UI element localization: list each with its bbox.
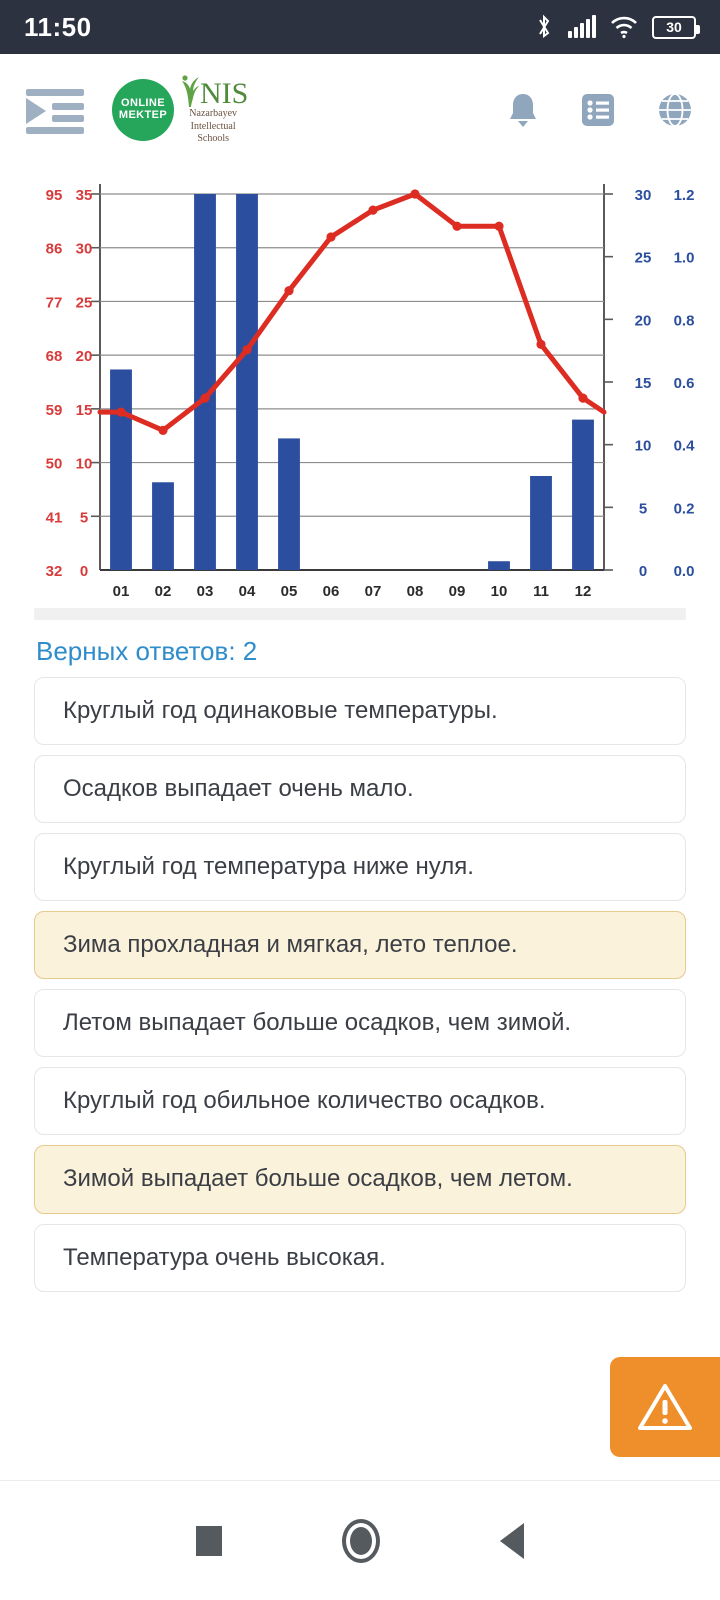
answer-option[interactable]: Зимой выпадает больше осадков, чем летом… <box>34 1145 686 1213</box>
climate-chart: 9586776859504132353025201510503025201510… <box>0 174 720 604</box>
nis-sub-line-2: Intellectual <box>189 121 237 134</box>
svg-text:20: 20 <box>635 312 652 329</box>
svg-text:20: 20 <box>76 348 93 365</box>
svg-text:0.4: 0.4 <box>674 438 696 455</box>
battery-icon: 30 <box>652 16 696 39</box>
answer-options-list: Круглый год одинаковые температуры.Осадк… <box>0 677 720 1292</box>
nis-sub-line-1: Nazarbayev <box>189 108 237 121</box>
status-bar: 11:50 30 <box>0 0 720 54</box>
svg-text:0.0: 0.0 <box>674 563 695 580</box>
svg-text:10: 10 <box>491 583 508 600</box>
battery-level-label: 30 <box>666 20 682 34</box>
svg-text:0.8: 0.8 <box>674 312 695 329</box>
header-actions <box>506 91 694 129</box>
answer-option-label: Зима прохладная и мягкая, лето теплое. <box>63 931 518 958</box>
android-navigation-bar <box>0 1480 720 1600</box>
svg-text:59: 59 <box>46 402 63 419</box>
status-system-icons: 30 <box>534 14 696 40</box>
climate-chart-container: 9586776859504132353025201510503025201510… <box>0 166 720 620</box>
answer-option[interactable]: Круглый год обильное количество осадков. <box>34 1067 686 1135</box>
svg-text:10: 10 <box>635 438 652 455</box>
answer-option-label: Зимой выпадает больше осадков, чем летом… <box>63 1165 573 1192</box>
climate-chart-svg: 9586776859504132353025201510503025201510… <box>0 174 720 604</box>
bluetooth-icon <box>534 14 554 40</box>
svg-text:0: 0 <box>639 563 647 580</box>
svg-text:41: 41 <box>46 509 63 526</box>
svg-text:95: 95 <box>46 187 63 204</box>
nis-bird-icon <box>178 74 200 108</box>
language-globe-icon[interactable] <box>656 91 694 129</box>
answer-option[interactable]: Круглый год одинаковые температуры. <box>34 677 686 745</box>
svg-text:15: 15 <box>635 375 652 392</box>
answer-option-label: Круглый год одинаковые температуры. <box>63 697 498 724</box>
svg-text:01: 01 <box>113 583 130 600</box>
menu-indent-icon[interactable] <box>26 87 84 133</box>
svg-text:07: 07 <box>365 583 382 600</box>
online-mektep-logo[interactable]: ONLINE MEKTEP <box>112 79 174 141</box>
svg-text:5: 5 <box>639 500 647 517</box>
notifications-bell-icon[interactable] <box>506 91 540 129</box>
svg-text:08: 08 <box>407 583 424 600</box>
svg-text:05: 05 <box>281 583 298 600</box>
svg-text:32: 32 <box>46 563 63 580</box>
back-triangle-icon[interactable] <box>500 1523 524 1559</box>
answer-option[interactable]: Температура очень высокая. <box>34 1224 686 1292</box>
answer-option-label: Круглый год температура ниже нуля. <box>63 853 474 880</box>
nis-logo: NIS Nazarbayev Intellectual Schools <box>178 74 248 146</box>
svg-text:1.2: 1.2 <box>674 187 695 204</box>
svg-text:5: 5 <box>80 509 88 526</box>
svg-text:30: 30 <box>76 241 93 258</box>
answer-option-label: Круглый год обильное количество осадков. <box>63 1087 546 1114</box>
svg-text:25: 25 <box>76 294 93 311</box>
answer-option-label: Температура очень высокая. <box>63 1244 386 1271</box>
svg-text:25: 25 <box>635 250 652 267</box>
svg-text:02: 02 <box>155 583 172 600</box>
tasks-list-icon[interactable] <box>580 92 616 128</box>
home-circle-icon[interactable] <box>342 1519 380 1563</box>
svg-text:86: 86 <box>46 241 63 258</box>
status-clock: 11:50 <box>24 12 92 43</box>
nis-word: NIS <box>200 80 248 109</box>
svg-text:68: 68 <box>46 348 63 365</box>
logo-line-2: MEKTEP <box>119 110 167 122</box>
brand-logos: ONLINE MEKTEP NIS Nazarbayev Intellectua… <box>112 74 248 146</box>
svg-text:0: 0 <box>80 563 88 580</box>
svg-text:77: 77 <box>46 294 63 311</box>
svg-text:10: 10 <box>76 456 93 473</box>
answer-option[interactable]: Круглый год температура ниже нуля. <box>34 833 686 901</box>
svg-text:04: 04 <box>239 583 256 600</box>
svg-text:35: 35 <box>76 187 93 204</box>
svg-text:03: 03 <box>197 583 214 600</box>
answer-option[interactable]: Осадков выпадает очень мало. <box>34 755 686 823</box>
correct-answers-count: Верных ответов: 2 <box>0 620 720 677</box>
nis-sub-line-3: Schools <box>189 133 237 146</box>
answer-option[interactable]: Зима прохладная и мягкая, лето теплое. <box>34 911 686 979</box>
svg-text:50: 50 <box>46 456 63 473</box>
svg-text:09: 09 <box>449 583 466 600</box>
chart-horizontal-scrollbar[interactable] <box>34 608 686 620</box>
report-problem-button[interactable] <box>610 1357 720 1457</box>
app-header: ONLINE MEKTEP NIS Nazarbayev Intellectua… <box>0 54 720 166</box>
svg-text:30: 30 <box>635 187 652 204</box>
svg-text:06: 06 <box>323 583 340 600</box>
report-problem-icon <box>637 1381 693 1433</box>
svg-text:12: 12 <box>575 583 592 600</box>
svg-text:11: 11 <box>533 583 549 600</box>
answer-option[interactable]: Летом выпадает больше осадков, чем зимой… <box>34 989 686 1057</box>
recents-square-icon[interactable] <box>196 1526 222 1556</box>
svg-text:1.0: 1.0 <box>674 250 695 267</box>
answer-option-label: Осадков выпадает очень мало. <box>63 775 414 802</box>
svg-text:0.6: 0.6 <box>674 375 695 392</box>
answer-option-label: Летом выпадает больше осадков, чем зимой… <box>63 1009 571 1036</box>
svg-text:0.2: 0.2 <box>674 500 695 517</box>
svg-text:15: 15 <box>76 402 93 419</box>
wifi-icon <box>610 15 638 39</box>
cellular-signal-icon <box>568 16 596 38</box>
